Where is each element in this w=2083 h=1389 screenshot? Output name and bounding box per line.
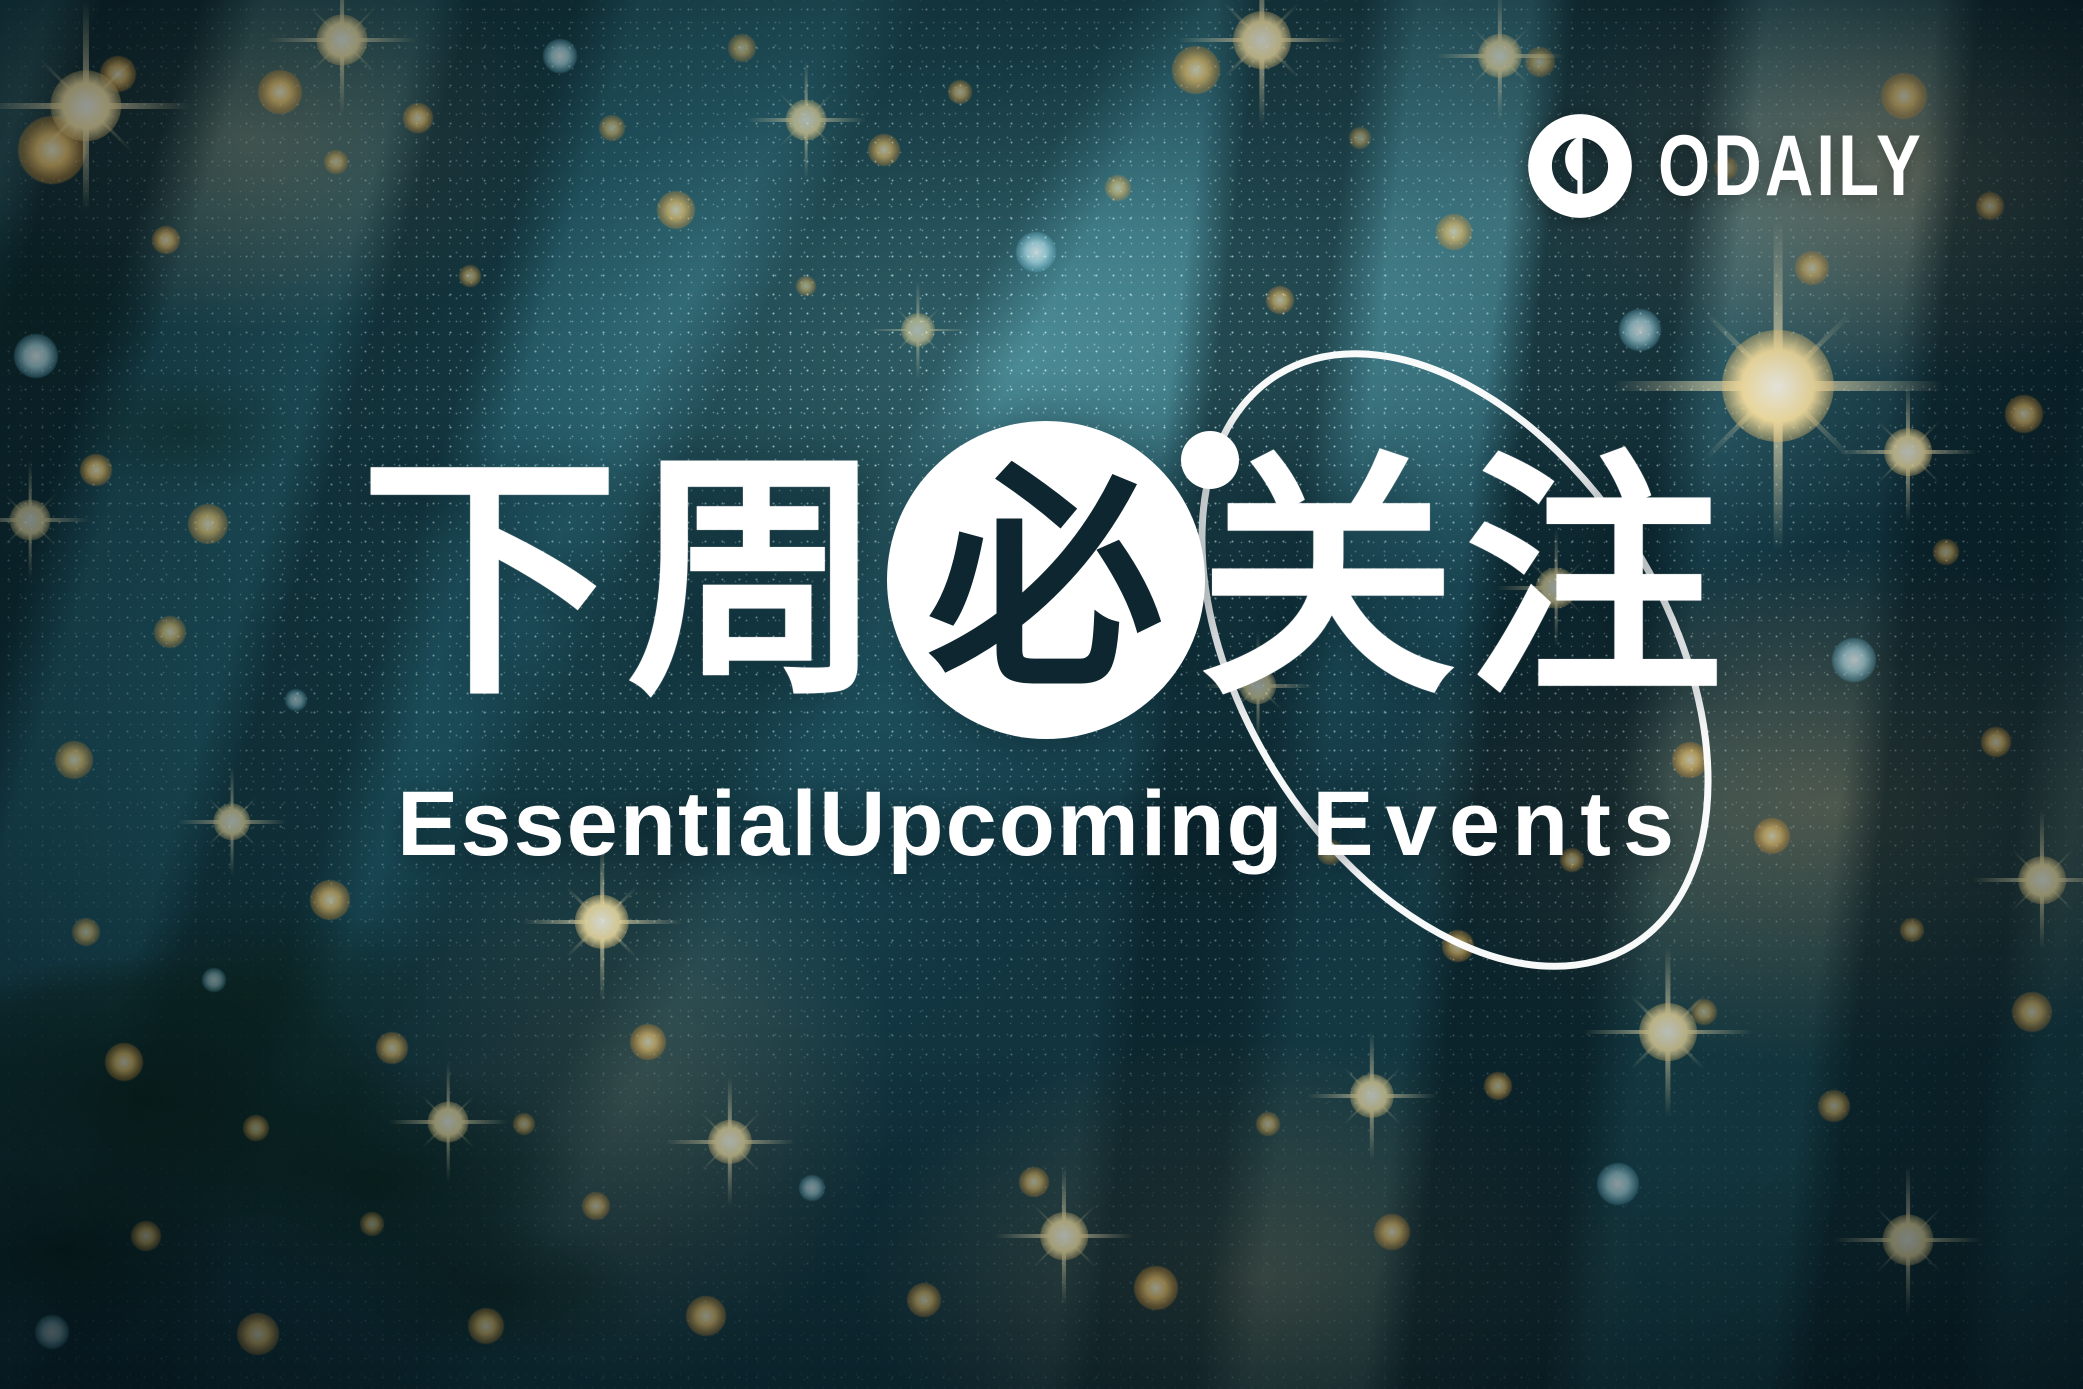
bokeh-light	[202, 968, 226, 992]
bokeh-light	[105, 1043, 143, 1081]
bokeh-light	[1019, 1167, 1049, 1197]
headline-char-guan: 关	[1199, 451, 1457, 709]
headline-char-zhou: 周	[627, 451, 885, 709]
bokeh-light	[513, 1113, 535, 1135]
bokeh-light	[403, 103, 433, 133]
odaily-circle-leaf-mark	[1526, 112, 1634, 220]
bokeh-light	[543, 39, 577, 73]
bokeh-light	[1256, 1112, 1280, 1136]
bokeh-light	[1172, 46, 1220, 94]
bokeh-light	[376, 1032, 408, 1064]
title-block: 下 周 必 关 注 EssentialUpcoming Events	[0, 430, 2083, 877]
golden-starburst	[1177, 0, 1347, 125]
bokeh-light	[799, 1175, 825, 1201]
bokeh-light	[1016, 232, 1056, 272]
bokeh-light	[360, 1212, 384, 1236]
bokeh-light	[1349, 127, 1371, 149]
odaily-wordmark: ODAILY	[1658, 123, 1924, 209]
bokeh-light	[796, 276, 816, 296]
bokeh-light	[310, 880, 350, 920]
highlight-accent-dot	[1181, 431, 1239, 489]
subtitle-part-essential-upcoming: EssentialUpcoming	[397, 773, 1285, 875]
golden-starburst	[1307, 1031, 1437, 1161]
bokeh-light	[72, 918, 100, 946]
bokeh-light	[1374, 1214, 1410, 1250]
bokeh-light	[459, 265, 481, 287]
bokeh-light	[1436, 214, 1472, 250]
bokeh-light	[599, 115, 625, 141]
headline-char-zhu: 注	[1465, 451, 1723, 709]
bokeh-light	[18, 116, 86, 184]
golden-starburst	[994, 1166, 1134, 1306]
bokeh-light	[243, 1115, 269, 1141]
bokeh-light	[948, 80, 972, 104]
bokeh-light	[1818, 1090, 1850, 1122]
golden-starburst	[1833, 1165, 1983, 1315]
bokeh-light	[868, 134, 900, 166]
bokeh-light	[1597, 1163, 1639, 1205]
bokeh-light	[1484, 1072, 1512, 1100]
bokeh-light	[14, 334, 58, 378]
bokeh-light	[907, 1283, 941, 1317]
bokeh-light	[1134, 1266, 1178, 1310]
bokeh-light	[686, 1296, 726, 1336]
bokeh-light	[324, 150, 348, 174]
bokeh-light	[1691, 999, 1717, 1025]
bokeh-light	[2012, 992, 2052, 1032]
bokeh-light	[35, 1315, 69, 1349]
golden-starburst	[267, 0, 417, 115]
chinese-headline: 下 周 必 关 注	[361, 430, 1723, 730]
bokeh-light	[1105, 175, 1131, 201]
subtitle-part-events: Events	[1312, 773, 1686, 875]
bokeh-light	[1442, 930, 1474, 962]
bokeh-light	[728, 34, 756, 62]
bokeh-light	[258, 70, 302, 114]
bokeh-light	[1900, 918, 1924, 942]
bokeh-light	[657, 191, 695, 229]
bokeh-light	[1266, 286, 1294, 314]
golden-starburst	[1583, 947, 1753, 1117]
bokeh-light	[152, 226, 180, 254]
bokeh-light	[1795, 251, 1829, 285]
headline-char-bi: 必	[927, 464, 1163, 700]
bokeh-light	[630, 1024, 666, 1060]
bokeh-light	[100, 56, 136, 92]
odaily-logo[interactable]: ODAILY	[1526, 112, 1999, 220]
bokeh-light	[1525, 47, 1555, 77]
bokeh-light	[582, 1192, 610, 1220]
golden-starburst	[746, 60, 866, 180]
golden-starburst	[868, 280, 968, 380]
bokeh-light	[131, 1221, 161, 1251]
headline-char-xia: 下	[361, 451, 619, 709]
golden-starburst	[0, 1, 191, 211]
odaily-upcoming-events-banner: ODAILY 下 周 必 关 注 EssentialUpcoming Event…	[0, 0, 2083, 1389]
bokeh-light	[1619, 309, 1661, 351]
headline-highlight-bi: 必	[887, 421, 1205, 739]
bokeh-light	[237, 1313, 279, 1355]
bokeh-light	[2005, 395, 2043, 433]
bokeh-light	[468, 1308, 504, 1344]
english-subtitle: EssentialUpcoming Events	[397, 772, 1686, 877]
golden-starburst	[1435, 0, 1565, 121]
golden-starburst	[665, 1077, 795, 1207]
golden-starburst	[388, 1062, 508, 1182]
